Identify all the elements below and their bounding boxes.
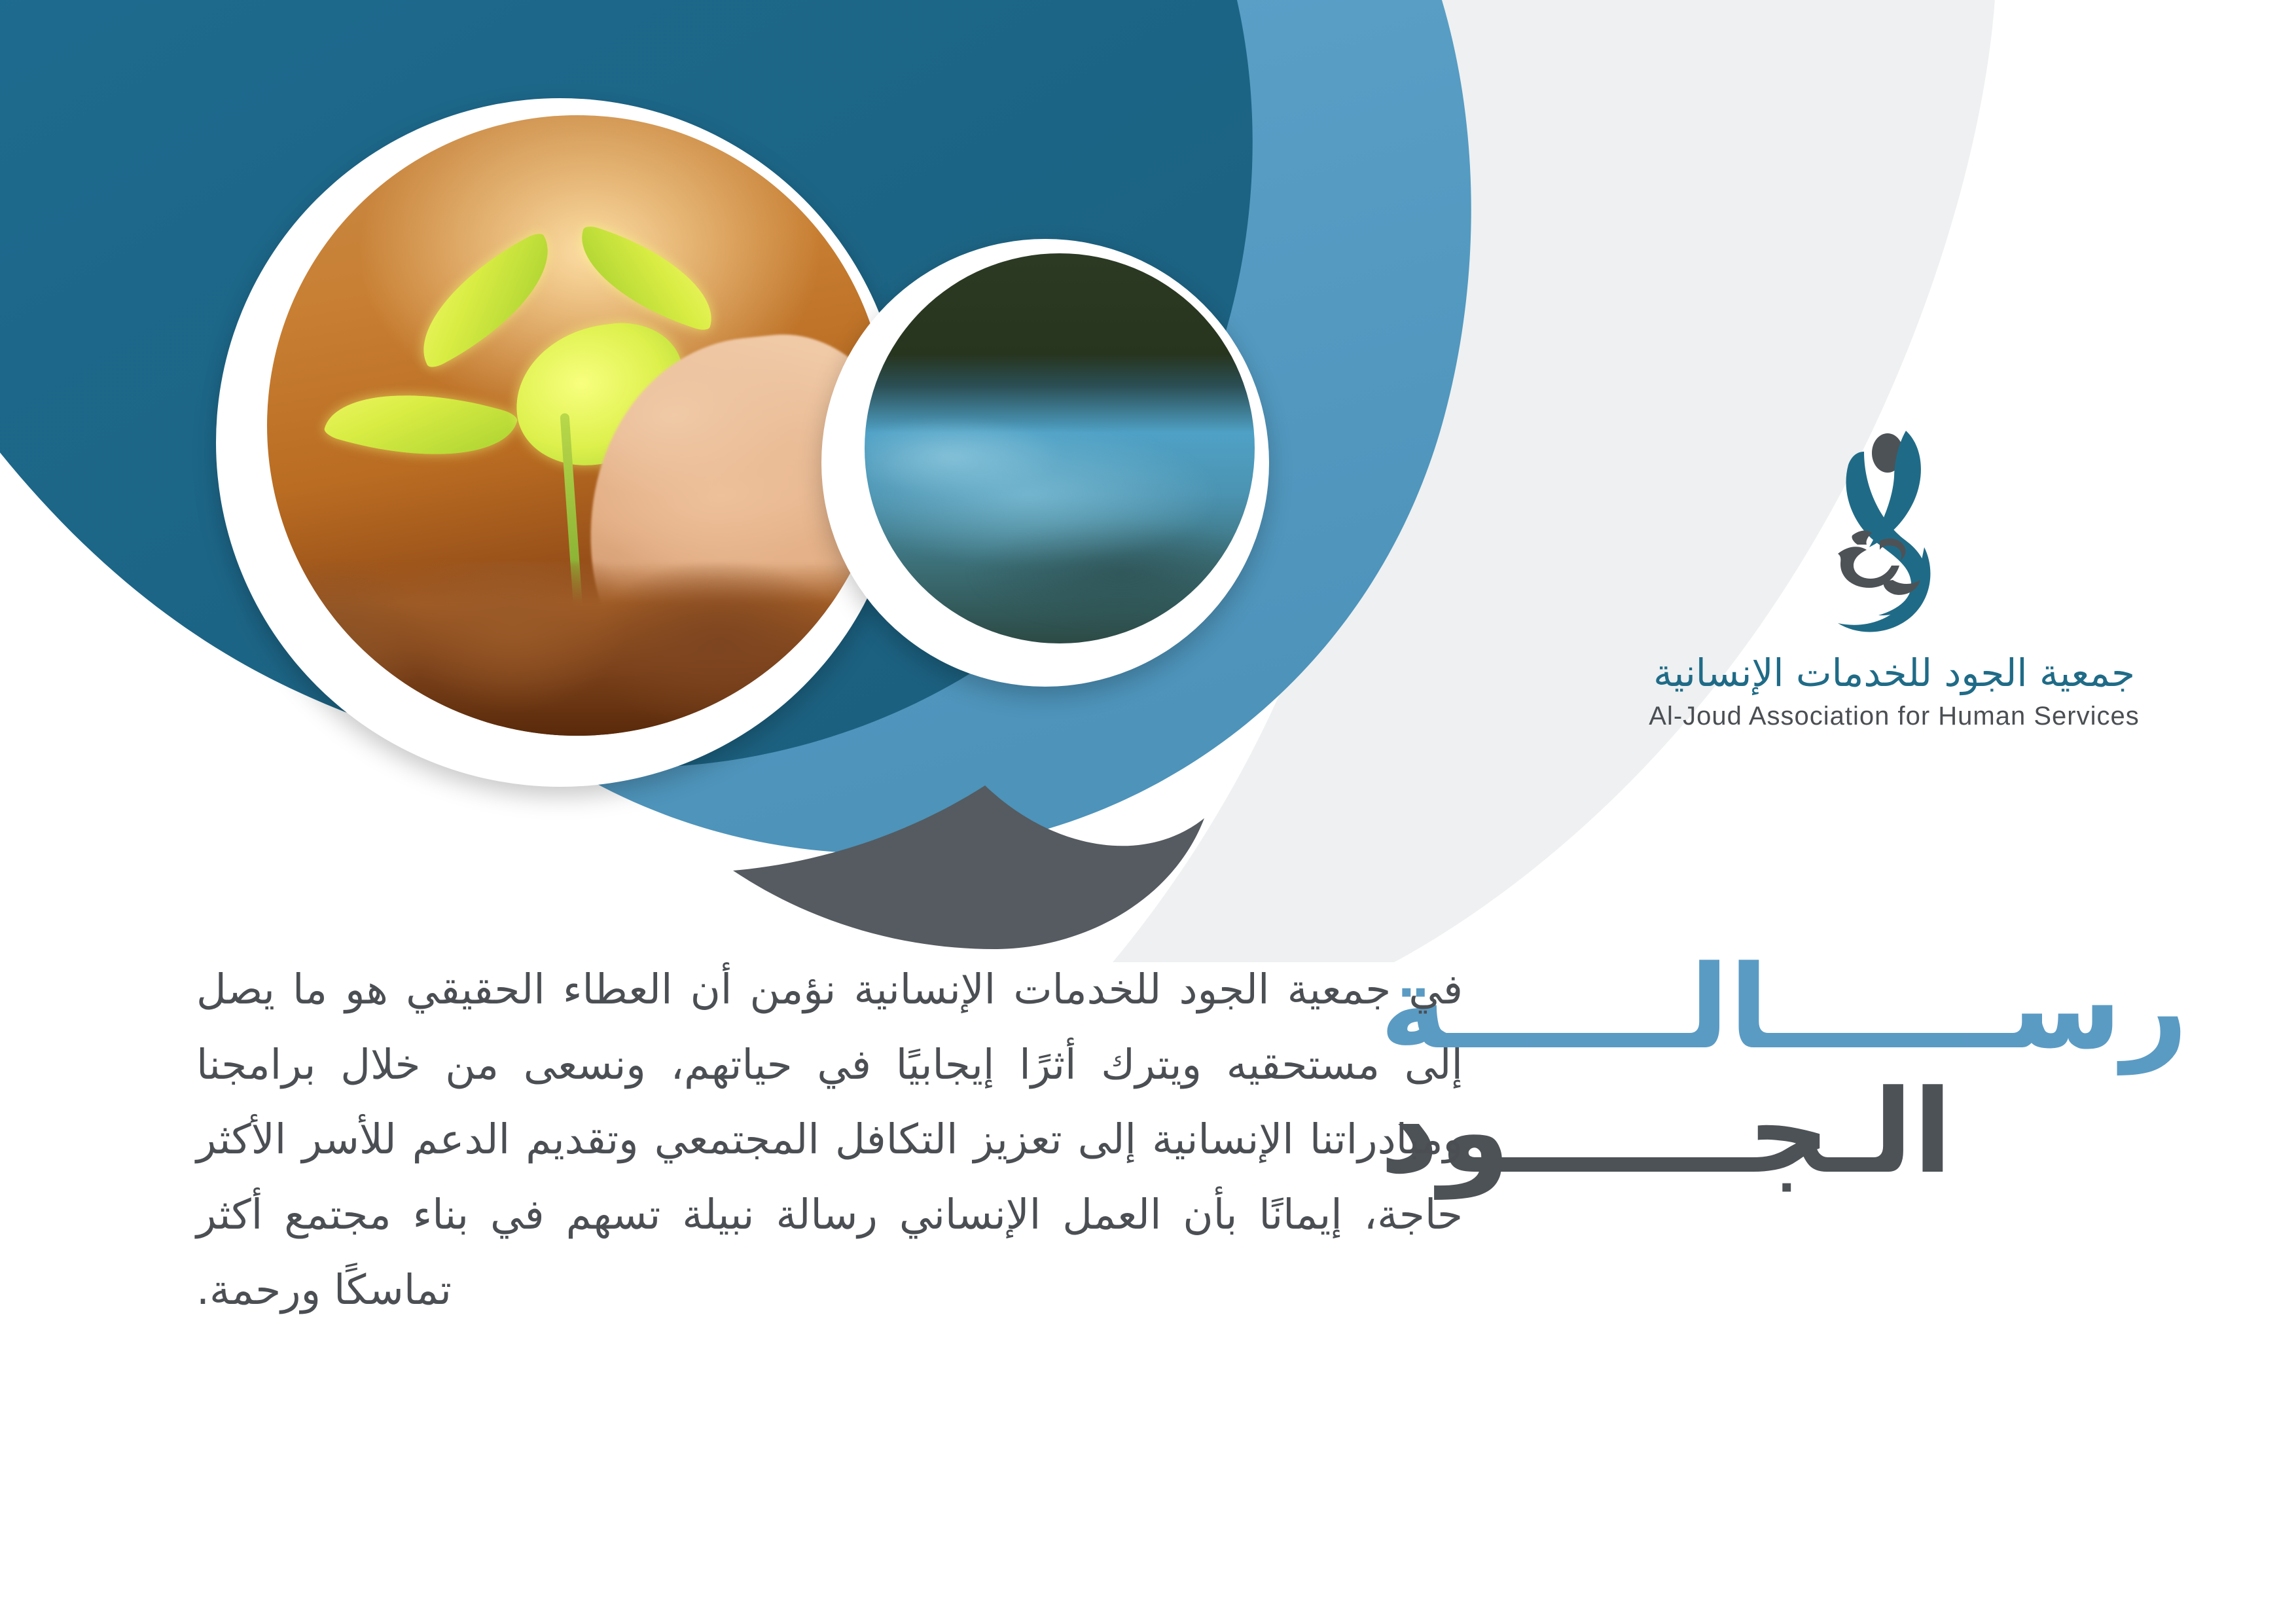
seedling-photo (267, 115, 888, 736)
page-title-line-2: الـجــــــود (1380, 1074, 2217, 1191)
leaf-upper-right-icon (565, 224, 728, 333)
hands-photo (865, 253, 1255, 643)
brochure-page: جمعية الجود للخدمات الإنسانية Al-Joud As… (0, 0, 2296, 1624)
footer: 14 جمعيـــة الجـــود للخدمات الانسانية A… (0, 1473, 2296, 1604)
soil-icon (267, 562, 888, 736)
association-name-english: Al-Joud Association for Human Services (1649, 702, 2139, 731)
association-name-arabic: جمعية الجود للخدمات الإنسانية (1653, 651, 2135, 695)
body-paragraph: في جمعية الجود للخدمات الإنسانية نؤمن أن… (196, 952, 1463, 1327)
aljoud-mark-icon (1796, 425, 1992, 641)
leaf-left-icon (323, 365, 519, 486)
main-photo-frame (216, 98, 905, 787)
page-title: رســــــالــــــة الـجــــــود (1380, 949, 2217, 1191)
body-text: في جمعية الجود للخدمات الإنسانية نؤمن أن… (196, 952, 1463, 1327)
association-logo: جمعية الجود للخدمات الإنسانية Al-Joud As… (1492, 425, 2296, 818)
page-title-line-1: رســــــالــــــة (1380, 949, 2217, 1067)
secondary-photo-frame (821, 239, 1269, 687)
